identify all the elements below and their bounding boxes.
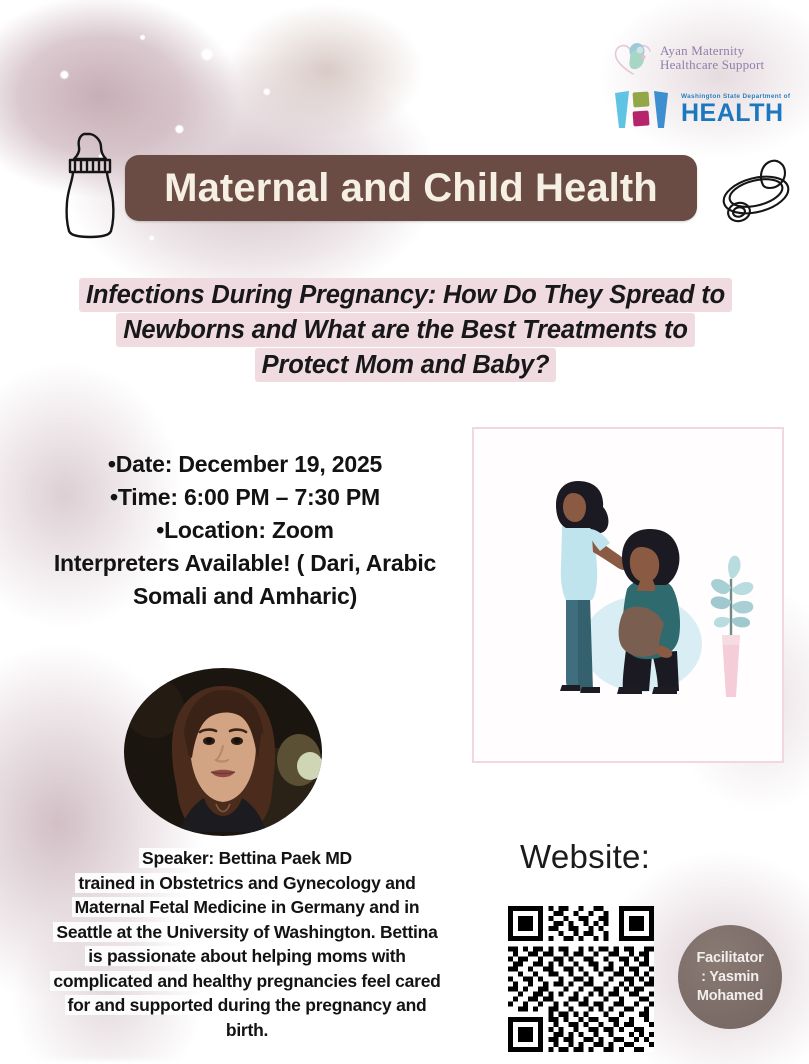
event-details-block: •Date: December 19, 2025 •Time: 6:00 PM … [20, 448, 470, 613]
facilitator-line: Mohamed [697, 987, 763, 1006]
website-label: Website: [520, 838, 650, 876]
facilitator-line: : Yasmin [701, 968, 759, 987]
pregnant-woman-with-support-person-illustration [474, 429, 782, 761]
ayan-logo-line2: Healthcare Support [660, 58, 764, 72]
ayan-logo-text: Ayan Maternity Healthcare Support [660, 44, 764, 72]
bio-line: for and supported during the pregnancy a… [8, 993, 486, 1018]
facilitator-badge: Facilitator : Yasmin Mohamed [678, 925, 782, 1029]
title-banner: Maternal and Child Health [125, 155, 697, 221]
subtitle-line-text: Protect Mom and Baby? [255, 348, 557, 382]
doh-logo-text: Washington State Department of HEALTH [681, 94, 790, 126]
bio-line: birth. [8, 1018, 486, 1043]
bio-line-text: Seattle at the University of Washington.… [53, 922, 440, 942]
flyer-page: Ayan Maternity Healthcare Support Washin… [0, 0, 809, 1064]
bio-line-text: complicated and healthy pregnancies feel… [50, 971, 443, 991]
pacifier-icon [714, 148, 802, 236]
subtitle-block: Infections During Pregnancy: How Do They… [38, 278, 773, 383]
mother-and-baby-heart-icon [612, 38, 654, 78]
ayan-maternity-logo: Ayan Maternity Healthcare Support [612, 36, 802, 80]
baby-bottle-icon [44, 128, 136, 240]
bio-line-text: birth. [223, 1020, 271, 1040]
bio-line: Speaker: Bettina Paek MD [8, 846, 486, 871]
washington-doh-logo: Washington State Department of HEALTH [612, 86, 802, 134]
bio-line-text: is passionate about helping moms with [85, 946, 408, 966]
bio-line-text: Maternal Fetal Medicine in Germany and i… [72, 897, 423, 917]
illustration-frame [472, 427, 784, 763]
subtitle-line: Infections During Pregnancy: How Do They… [38, 278, 773, 313]
subtitle-line-text: Newborns and What are the Best Treatment… [116, 313, 695, 347]
doh-name: HEALTH [681, 101, 790, 126]
facilitator-line: Facilitator [696, 949, 763, 968]
event-detail-interpreters-line2: Somali and Amharic) [20, 580, 470, 613]
bio-line-text: Speaker: Bettina Paek MD [139, 848, 355, 868]
subtitle-line: Protect Mom and Baby? [38, 348, 773, 383]
event-detail-location: •Location: Zoom [20, 514, 470, 547]
qr-code[interactable] [508, 906, 654, 1052]
bio-line: trained in Obstetrics and Gynecology and [8, 871, 486, 896]
speaker-bio-block: Speaker: Bettina Paek MD trained in Obst… [8, 846, 486, 1042]
bio-line: complicated and healthy pregnancies feel… [8, 969, 486, 994]
wa-doh-blocks-icon [612, 88, 674, 132]
event-detail-time: •Time: 6:00 PM – 7:30 PM [20, 481, 470, 514]
page-title: Maternal and Child Health [164, 166, 658, 211]
subtitle-line-text: Infections During Pregnancy: How Do They… [79, 278, 732, 312]
bio-line: Maternal Fetal Medicine in Germany and i… [8, 895, 486, 920]
ayan-logo-line1: Ayan Maternity [660, 43, 744, 58]
bio-line: is passionate about helping moms with [8, 944, 486, 969]
event-detail-interpreters-line1: Interpreters Available! ( Dari, Arabic [20, 547, 470, 580]
bio-line: Seattle at the University of Washington.… [8, 920, 486, 945]
subtitle-line: Newborns and What are the Best Treatment… [38, 313, 773, 348]
bio-line-text: trained in Obstetrics and Gynecology and [75, 873, 418, 893]
event-detail-date: •Date: December 19, 2025 [20, 448, 470, 481]
speaker-headshot-photo [124, 668, 322, 836]
bio-line-text: for and supported during the pregnancy a… [65, 995, 430, 1015]
